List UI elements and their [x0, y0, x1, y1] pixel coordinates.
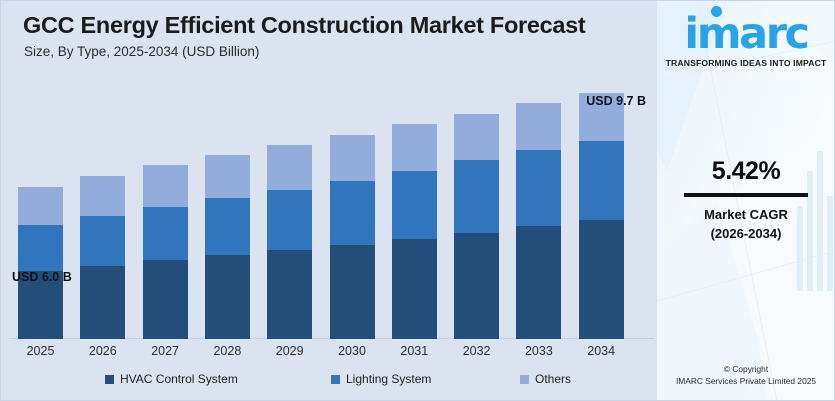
bar-segment — [267, 190, 312, 251]
imarc-logo: imarc TRANSFORMING IDEAS INTO IMPACT — [657, 15, 835, 68]
chart-subtitle: Size, By Type, 2025-2034 (USD Billion) — [24, 44, 259, 59]
bar-segment — [80, 216, 125, 265]
bar-segment — [454, 233, 499, 339]
cagr-period: (2026-2034) — [657, 225, 835, 244]
bar-segment — [392, 239, 437, 339]
bar-group — [454, 114, 499, 339]
plot-area: USD 6.0 B USD 9.7 B — [1, 73, 657, 339]
value-label-first: USD 6.0 B — [12, 270, 72, 284]
bar-segment — [80, 176, 125, 217]
bar-segment — [18, 187, 63, 225]
legend-item[interactable]: Lighting System — [331, 372, 431, 386]
bar-segment — [143, 260, 188, 339]
x-axis: 2025202620272028202920302031203220332034 — [1, 341, 657, 365]
bar-segment — [579, 220, 624, 339]
bar-group — [18, 187, 63, 339]
legend-label: Others — [535, 372, 571, 386]
legend-swatch-icon — [520, 375, 529, 384]
x-axis-tick-label: 2029 — [267, 344, 312, 358]
legend-label: Lighting System — [346, 372, 431, 386]
page-title: GCC Energy Efficient Construction Market… — [23, 12, 585, 39]
bar-group — [392, 124, 437, 339]
x-axis-tick-label: 2033 — [516, 344, 561, 358]
x-axis-tick-label: 2028 — [205, 344, 250, 358]
bar-segment — [267, 145, 312, 189]
bar-segment — [80, 266, 125, 339]
bar-group — [516, 103, 561, 339]
cagr-value: 5.42% — [657, 157, 835, 186]
copyright-line-1: © Copyright — [657, 363, 835, 376]
x-axis-tick-label: 2031 — [392, 344, 437, 358]
bar-group — [267, 145, 312, 339]
bar-segment — [330, 245, 375, 339]
brand-panel: imarc TRANSFORMING IDEAS INTO IMPACT 5.4… — [657, 0, 835, 401]
bar-segment — [205, 198, 250, 255]
cagr-label: Market CAGR — [657, 206, 835, 225]
legend-label: HVAC Control System — [120, 372, 238, 386]
legend-swatch-icon — [105, 375, 114, 384]
bar-segment — [205, 255, 250, 339]
bar-segment — [392, 124, 437, 171]
bar-segment — [143, 207, 188, 260]
cagr-block: 5.42% Market CAGR (2026-2034) — [657, 157, 835, 244]
x-axis-tick-label: 2030 — [330, 344, 375, 358]
cagr-divider — [684, 193, 808, 197]
bar-segment — [267, 250, 312, 339]
logo-wordmark: imarc — [684, 15, 807, 55]
legend-swatch-icon — [331, 375, 340, 384]
x-axis-tick-label: 2034 — [579, 344, 624, 358]
logo-tagline: TRANSFORMING IDEAS INTO IMPACT — [657, 58, 835, 68]
bar-segment — [18, 225, 63, 271]
bar-group — [330, 135, 375, 339]
bar-segment — [516, 150, 561, 226]
value-label-last: USD 9.7 B — [586, 94, 646, 108]
bar-segment — [330, 181, 375, 246]
bar-group — [579, 93, 624, 339]
bar-segment — [454, 160, 499, 232]
bar-segment — [330, 135, 375, 181]
bar-segment — [516, 226, 561, 339]
x-axis-tick-label: 2025 — [18, 344, 63, 358]
legend-item[interactable]: Others — [520, 372, 571, 386]
bar-group — [205, 155, 250, 339]
chart-legend: HVAC Control SystemLighting SystemOthers — [1, 372, 657, 394]
x-axis-tick-label: 2026 — [80, 344, 125, 358]
bar-segment — [579, 141, 624, 220]
bar-segment — [516, 103, 561, 150]
copyright-notice: © Copyright IMARC Services Private Limit… — [657, 363, 835, 388]
x-axis-tick-label: 2027 — [143, 344, 188, 358]
bar-segment — [143, 165, 188, 207]
chart-screenshot: GCC Energy Efficient Construction Market… — [0, 0, 835, 401]
bar-segment — [205, 155, 250, 198]
bar-segment — [392, 171, 437, 239]
chart-panel: GCC Energy Efficient Construction Market… — [0, 0, 657, 401]
copyright-line-2: IMARC Services Private Limited 2025 — [657, 375, 835, 388]
legend-item[interactable]: HVAC Control System — [105, 372, 238, 386]
bar-group — [80, 176, 125, 339]
bar-group — [143, 165, 188, 339]
bar-segment — [454, 114, 499, 161]
x-axis-tick-label: 2032 — [454, 344, 499, 358]
